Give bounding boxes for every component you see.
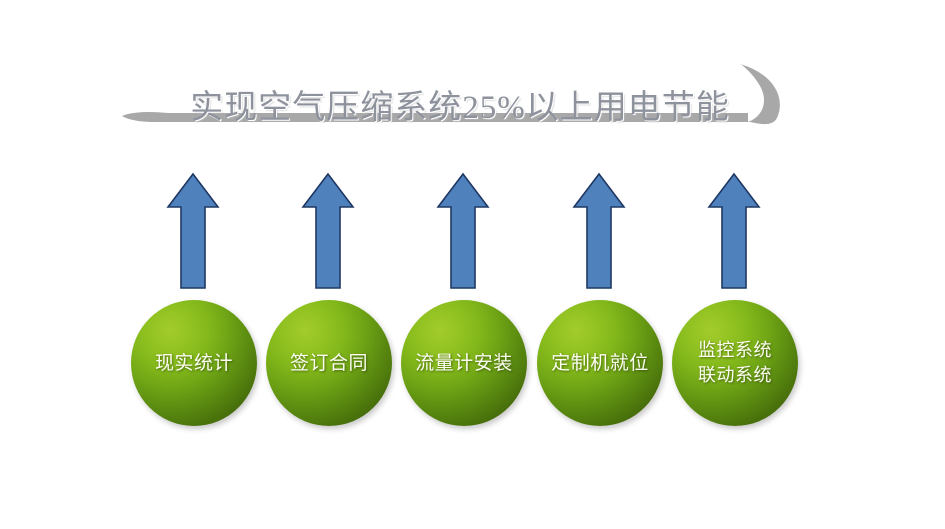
up-arrow-icon-5 — [706, 171, 762, 291]
up-arrow-icon-4 — [571, 171, 627, 291]
process-node-5[interactable]: 监控系统 联动系统 — [672, 300, 798, 426]
process-node-1[interactable]: 现实统计 — [131, 300, 257, 426]
up-arrow-icon-3 — [435, 171, 491, 291]
up-arrow-icon-1 — [165, 171, 221, 291]
title-banner: 实现空气压缩系统25%以上用电节能 — [0, 30, 945, 140]
process-node-label: 监控系统 联动系统 — [694, 338, 776, 388]
process-node-4[interactable]: 定制机就位 — [537, 300, 663, 426]
slide-canvas: 实现空气压缩系统25%以上用电节能 现实统计 签订合同 流量计安装 定制机就位 … — [0, 0, 945, 529]
process-node-2[interactable]: 签订合同 — [266, 300, 392, 426]
process-node-label: 签订合同 — [286, 351, 372, 376]
process-node-label: 定制机就位 — [547, 351, 653, 376]
process-node-label: 流量计安装 — [411, 351, 517, 376]
process-node-3[interactable]: 流量计安装 — [401, 300, 527, 426]
process-node-label: 现实统计 — [151, 351, 237, 376]
up-arrow-icon-2 — [300, 171, 356, 291]
page-title: 实现空气压缩系统25%以上用电节能 — [150, 80, 770, 128]
